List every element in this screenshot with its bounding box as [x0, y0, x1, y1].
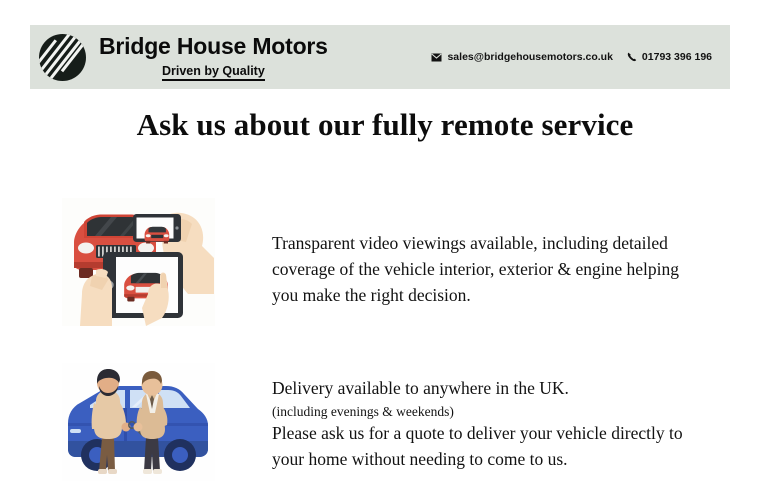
copy-line: Delivery available to anywhere in the UK…	[272, 376, 692, 402]
phone-number: 01793 396 196	[642, 51, 712, 63]
envelope-icon	[431, 53, 442, 62]
striped-circle-logo-icon	[39, 34, 86, 81]
header-contact-details: sales@bridgehousemotors.co.uk 01793 396 …	[431, 51, 712, 63]
video-viewing-illustration	[62, 198, 215, 326]
key-handover-illustration	[62, 363, 215, 481]
video-viewings-copy: Transparent video viewings available, in…	[272, 231, 692, 309]
phone-contact[interactable]: 01793 396 196	[627, 51, 712, 63]
copy-line: coverage of the vehicle interior, exteri…	[272, 257, 692, 283]
brand-block: Bridge House Motors Driven by Quality	[39, 34, 328, 81]
copy-line: your home without needing to come to us.	[272, 447, 692, 473]
site-header: Bridge House Motors Driven by Quality sa…	[30, 25, 730, 89]
copy-line: Please ask us for a quote to deliver you…	[272, 421, 692, 447]
brand-name: Bridge House Motors	[99, 34, 328, 59]
email-contact[interactable]: sales@bridgehousemotors.co.uk	[431, 51, 612, 63]
page-headline: Ask us about our fully remote service	[0, 107, 770, 143]
brand-tagline: Driven by Quality	[162, 64, 265, 81]
copy-line: you make the right decision.	[272, 283, 692, 309]
copy-line-small: (including evenings & weekends)	[272, 402, 692, 422]
phone-handset-icon	[627, 52, 637, 62]
section-delivery: Delivery available to anywhere in the UK…	[62, 363, 692, 481]
email-address: sales@bridgehousemotors.co.uk	[447, 51, 612, 63]
copy-line: Transparent video viewings available, in…	[272, 231, 692, 257]
brand-text: Bridge House Motors Driven by Quality	[99, 34, 328, 80]
section-video-viewings: Transparent video viewings available, in…	[62, 198, 692, 326]
delivery-copy: Delivery available to anywhere in the UK…	[272, 376, 692, 473]
